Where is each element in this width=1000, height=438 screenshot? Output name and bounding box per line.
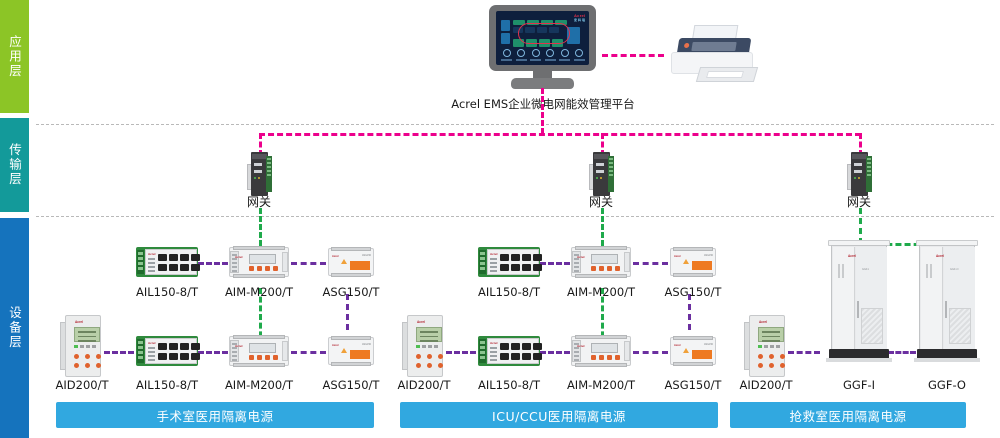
link-l-aim-asg-bot xyxy=(291,351,326,354)
label-aid200-left: AID200/T xyxy=(37,378,127,392)
monitor-body: Acrel 安科瑞 xyxy=(489,5,596,71)
link-gw2-down xyxy=(601,208,604,246)
link-m-aim-asg-top xyxy=(633,262,668,265)
layer-bar-device: 设备层 xyxy=(0,218,29,438)
label-ail150-left-top: AIL150-8/T xyxy=(122,285,212,299)
device-aid200-right: Acrel xyxy=(744,315,788,377)
printer-icon xyxy=(668,25,760,85)
label-aim-m200-mid-top: AIM-M200/T xyxy=(556,285,646,299)
group-banner-operating-room: 手术室医用隔离电源 xyxy=(56,402,374,428)
device-asg150-left-bottom: AcrelASG150 xyxy=(328,337,374,365)
device-aim-m200-left-bottom: Acrel xyxy=(229,336,289,366)
link-gw1-down xyxy=(259,208,262,246)
link-r-ggfi-ggfo xyxy=(888,351,916,354)
layer-divider-bottom xyxy=(36,216,994,217)
label-aim-m200-left-top: AIM-M200/T xyxy=(214,285,304,299)
screen-flow-ring xyxy=(518,23,570,44)
link-m-aim-asg-bot xyxy=(633,351,668,354)
device-ail150-left-bottom: Acrel xyxy=(136,336,198,366)
device-aid200-left: Acrel xyxy=(60,315,104,377)
link-m-asg-vert xyxy=(688,294,691,330)
link-l-asg-vert xyxy=(346,294,349,330)
ems-monitor: Acrel 安科瑞 xyxy=(489,5,596,89)
label-ail150-left-bottom: AIL150-8/T xyxy=(122,378,212,392)
layer-bar-application: 应用层 xyxy=(0,0,29,113)
link-pc-printer xyxy=(602,54,664,57)
label-aim-m200-left-bottom: AIM-M200/T xyxy=(214,378,304,392)
layer-label-device: 设备层 xyxy=(5,306,24,350)
label-ggf-o: GGF-O xyxy=(902,378,992,392)
label-ail150-mid-bottom: AIL150-8/T xyxy=(464,378,554,392)
group-banner-icu-ccu: ICU/CCU医用隔离电源 xyxy=(400,402,718,428)
group-banner-emergency-room: 抢救室医用隔离电源 xyxy=(730,402,966,428)
label-aim-m200-mid-bottom: AIM-M200/T xyxy=(556,378,646,392)
label-ail150-mid-top: AIL150-8/T xyxy=(464,285,554,299)
device-ail150-mid-top: Acrel xyxy=(478,247,540,277)
device-asg150-mid-top: AcrelASG150 xyxy=(670,248,716,276)
label-aid200-mid: AID200/T xyxy=(379,378,469,392)
device-asg150-left-top: AcrelASG150 xyxy=(328,248,374,276)
device-ail150-mid-bottom: Acrel xyxy=(478,336,540,366)
gateway-1 xyxy=(247,152,273,196)
layer-label-transmission: 传输层 xyxy=(5,143,24,187)
gateway-2-terminal xyxy=(608,156,614,192)
layer-divider-top xyxy=(36,124,994,125)
link-m-aid-ail-bot xyxy=(446,351,476,354)
layer-bar-transmission: 传输层 xyxy=(0,118,29,212)
link-r-aid-ggfi xyxy=(788,351,820,354)
device-ail150-left-top: Acrel xyxy=(136,247,198,277)
device-aid200-mid: Acrel xyxy=(402,315,446,377)
gateway-1-terminal xyxy=(266,156,272,192)
link-pc-bus-down xyxy=(541,88,544,134)
diagram-canvas: 应用层 传输层 设备层 Acrel 安科瑞 xyxy=(0,0,1000,438)
gateway-3 xyxy=(847,152,873,196)
screen-icon-row xyxy=(501,49,585,62)
label-asg150-left-top: ASG150/T xyxy=(306,285,396,299)
device-aim-m200-mid-top: Acrel xyxy=(571,247,631,277)
gateway-2 xyxy=(589,152,615,196)
link-gw3-down xyxy=(859,208,862,244)
device-aim-m200-left-top: Acrel xyxy=(229,247,289,277)
cabinet-ggf-o: Acrel GGF-O xyxy=(919,240,975,362)
label-aid200-right: AID200/T xyxy=(721,378,811,392)
printer-output-tray xyxy=(696,67,758,82)
label-ggf-i: GGF-I xyxy=(814,378,904,392)
layer-label-application: 应用层 xyxy=(5,35,24,79)
monitor-screen: Acrel 安科瑞 xyxy=(496,11,589,65)
link-l-aim-asg-top xyxy=(291,262,326,265)
link-l-aid-ail-bot xyxy=(104,351,134,354)
link-pc-bus-horizontal xyxy=(259,133,861,136)
device-aim-m200-mid-bottom: Acrel xyxy=(571,336,631,366)
cabinet-ggf-i: Acrel GGF-I xyxy=(831,240,887,362)
label-asg150-mid-top: ASG150/T xyxy=(648,285,738,299)
gateway-3-terminal xyxy=(866,156,872,192)
device-asg150-mid-bottom: AcrelASG150 xyxy=(670,337,716,365)
